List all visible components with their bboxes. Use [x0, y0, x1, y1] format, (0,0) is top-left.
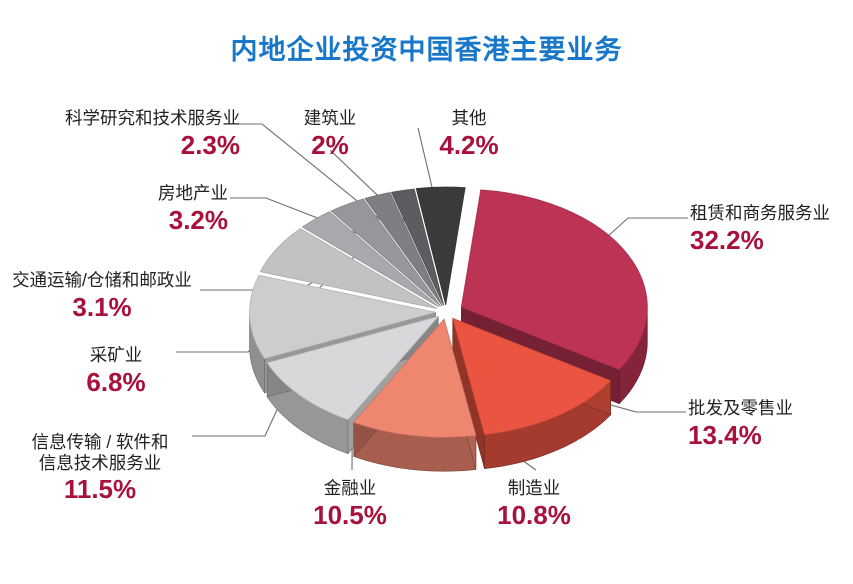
callout-mining: 采矿业 6.8%	[62, 345, 170, 397]
callout-percent-value: 3.1%	[8, 292, 196, 323]
callout-category-label-2: 信息技术服务业	[14, 453, 186, 474]
callout-percent-value: 3.2%	[60, 205, 228, 236]
chart-canvas: 内地企业投资中国香港主要业务 科学研究和技术服务业 2.3% 建筑业 2% 其他…	[0, 0, 853, 584]
callout-percent-value: 32.2%	[690, 225, 853, 256]
callout-category-label: 交通运输/仓储和邮政业	[8, 270, 196, 291]
callout-percent-value: 2%	[282, 130, 378, 161]
pie-slices-group	[250, 187, 648, 471]
callout-category-label: 采矿业	[62, 345, 170, 366]
callout-percent-value: 4.2%	[424, 130, 514, 161]
callout-finance: 金融业 10.5%	[300, 478, 400, 530]
callout-category-label: 租赁和商务服务业	[690, 203, 853, 224]
callout-real-estate: 房地产业 3.2%	[60, 183, 228, 235]
callout-percent-value: 6.8%	[62, 367, 170, 398]
callout-percent-value: 13.4%	[688, 420, 853, 451]
callout-transport-postal: 交通运输/仓储和邮政业 3.1%	[8, 270, 196, 322]
callout-construction: 建筑业 2%	[282, 108, 378, 160]
callout-category-label: 其他	[424, 108, 514, 129]
callout-percent-value: 10.8%	[484, 500, 584, 531]
callout-percent-value: 2.3%	[18, 130, 240, 161]
callout-category-label: 批发及零售业	[688, 398, 853, 419]
callout-category-label: 信息传输 / 软件和	[14, 432, 186, 453]
callout-category-label: 房地产业	[60, 183, 228, 204]
callout-manufacturing: 制造业 10.8%	[484, 478, 584, 530]
callout-category-label: 制造业	[484, 478, 584, 499]
callout-info-tech: 信息传输 / 软件和 信息技术服务业 11.5%	[14, 432, 186, 505]
callout-other: 其他 4.2%	[424, 108, 514, 160]
callout-leasing-business: 租赁和商务服务业 32.2%	[690, 203, 853, 255]
callout-category-label: 科学研究和技术服务业	[18, 108, 240, 129]
callout-category-label: 建筑业	[282, 108, 378, 129]
callout-science-research: 科学研究和技术服务业 2.3%	[18, 108, 240, 160]
callout-category-label: 金融业	[300, 478, 400, 499]
callout-wholesale-retail: 批发及零售业 13.4%	[688, 398, 853, 450]
callout-percent-value: 10.5%	[300, 500, 400, 531]
callout-percent-value: 11.5%	[14, 474, 186, 505]
